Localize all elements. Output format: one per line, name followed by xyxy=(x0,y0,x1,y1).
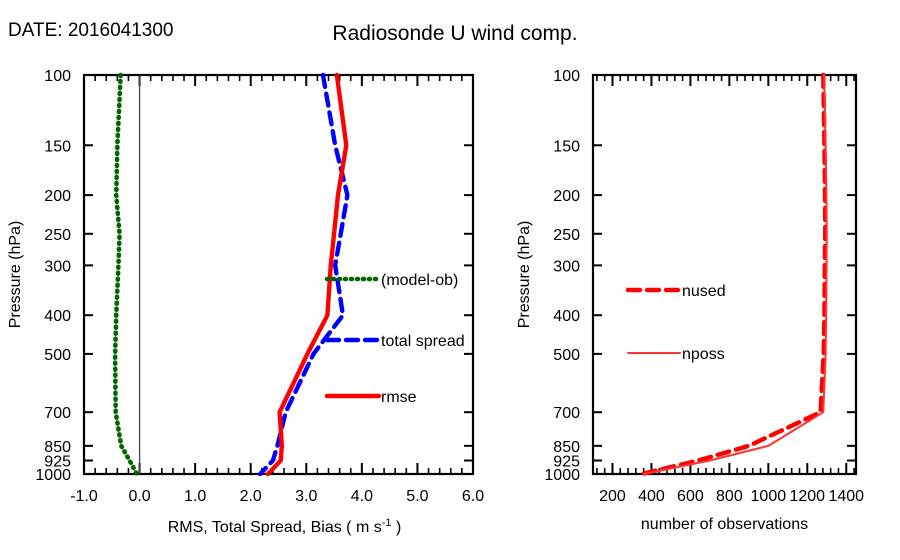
legend-left-label-modelob: (model-ob) xyxy=(381,272,458,289)
ytick-label-150: 150 xyxy=(553,138,580,155)
xtick-label-400: 400 xyxy=(638,488,665,505)
xtick-label-1400: 1400 xyxy=(828,488,864,505)
xtick-label-600: 600 xyxy=(677,488,704,505)
ytick-label-100: 100 xyxy=(553,68,580,85)
legend-right-label-nused: nused xyxy=(682,283,726,300)
legend-left-label-totalspread: total spread xyxy=(381,333,465,350)
ytick-label-700: 700 xyxy=(44,405,71,422)
xtick-label-4: 4.0 xyxy=(351,488,373,505)
xtick-label-800: 800 xyxy=(716,488,743,505)
y-axis-label-right: Pressure (hPa) xyxy=(516,221,533,329)
x-axis-label-right: number of observations xyxy=(641,516,808,533)
xtick-label-2: 2.0 xyxy=(240,488,262,505)
series-line-modelob xyxy=(115,75,137,474)
y-axis-label-left: Pressure (hPa) xyxy=(7,221,24,329)
ytick-label-200: 200 xyxy=(44,188,71,205)
series-line-nused xyxy=(642,75,826,474)
ytick-label-400: 400 xyxy=(553,308,580,325)
legend-right-label-nposs: nposs xyxy=(682,346,725,363)
ytick-label-100: 100 xyxy=(44,68,71,85)
ytick-label-150: 150 xyxy=(44,138,71,155)
xtick-label-1: 1.0 xyxy=(184,488,206,505)
xtick-label-3: 3.0 xyxy=(295,488,317,505)
page-title: Radiosonde U wind comp. xyxy=(332,22,577,45)
ytick-label-1000: 1000 xyxy=(544,467,580,484)
ytick-label-250: 250 xyxy=(553,227,580,244)
xtick-label-5: 5.0 xyxy=(406,488,428,505)
ytick-label-400: 400 xyxy=(44,308,71,325)
plot-page: DATE: 2016041300Radiosonde U wind comp.1… xyxy=(0,0,900,560)
ytick-label-500: 500 xyxy=(44,347,71,364)
series-line-nposs xyxy=(644,75,827,474)
xtick-label-6: 6.0 xyxy=(462,488,484,505)
xtick-label-0: 0.0 xyxy=(128,488,150,505)
ytick-label-1000: 1000 xyxy=(35,467,71,484)
date-label: DATE: 2016041300 xyxy=(8,20,174,41)
legend-left-label-rmse: rmse xyxy=(381,389,417,406)
series-line-totalspread xyxy=(260,75,347,474)
ytick-label-200: 200 xyxy=(553,188,580,205)
ytick-label-500: 500 xyxy=(553,347,580,364)
xtick-label--1: -1.0 xyxy=(70,488,98,505)
xtick-label-1000: 1000 xyxy=(751,488,787,505)
figure-canvas: DATE: 2016041300Radiosonde U wind comp.1… xyxy=(0,0,900,560)
x-axis-label-left: RMS, Total Spread, Bias ( m s-1 ) xyxy=(168,517,402,536)
ytick-label-300: 300 xyxy=(553,258,580,275)
xtick-label-1200: 1200 xyxy=(789,488,825,505)
ytick-label-300: 300 xyxy=(44,258,71,275)
xtick-label-200: 200 xyxy=(599,488,626,505)
ytick-label-250: 250 xyxy=(44,227,71,244)
ytick-label-700: 700 xyxy=(553,405,580,422)
